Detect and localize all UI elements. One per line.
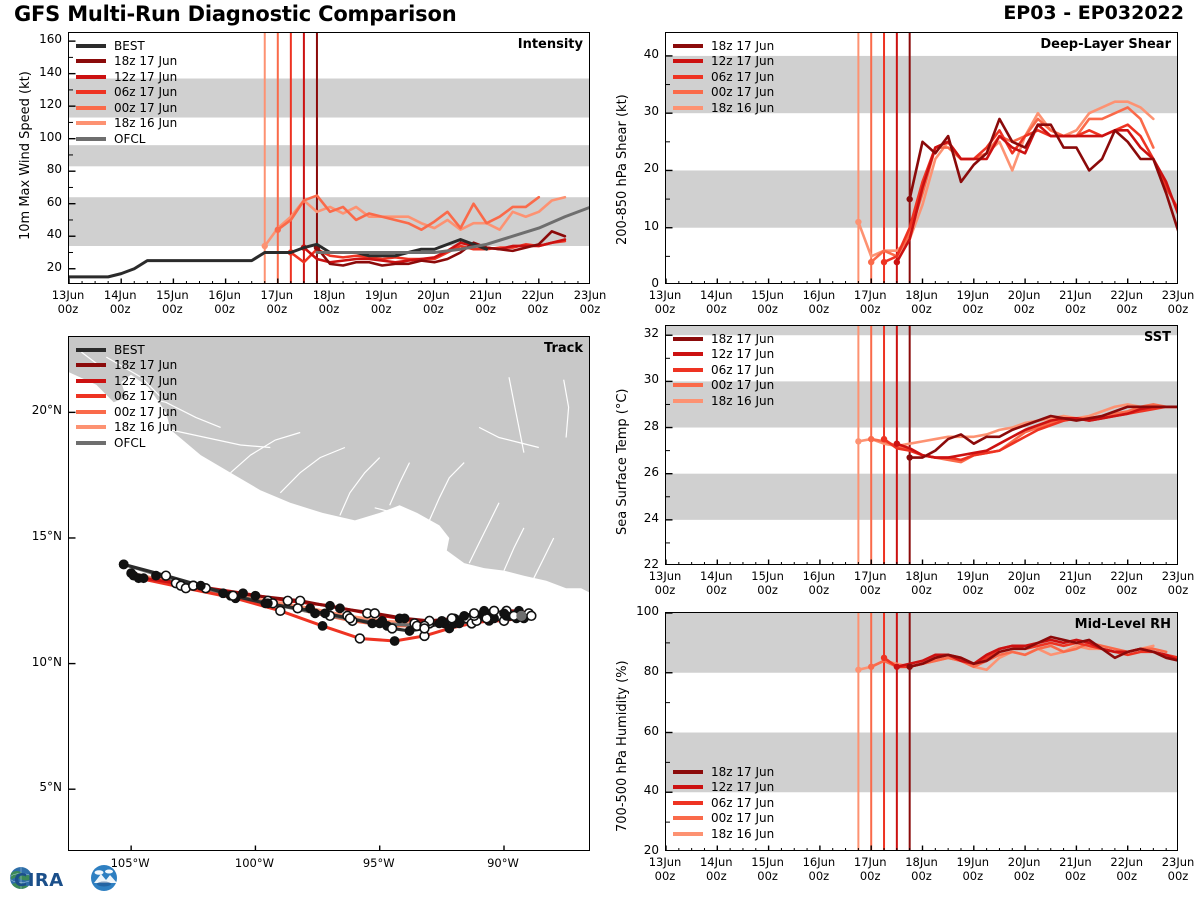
legend-color-swatch <box>673 399 703 403</box>
legend-item[interactable]: 18z 17 Jun <box>76 54 177 70</box>
shaded-band <box>69 145 590 166</box>
legend-item[interactable]: 18z 16 Jun <box>673 393 774 409</box>
legend-item[interactable]: OFCL <box>76 435 177 451</box>
track-marker-open <box>370 609 379 618</box>
rh-panel-label: Mid-Level RH <box>1075 617 1171 632</box>
legend-color-swatch <box>76 410 106 414</box>
track-marker-open <box>276 606 285 615</box>
legend-label: 12z 17 Jun <box>711 347 774 361</box>
legend-item[interactable]: 00z 17 Jun <box>76 404 177 420</box>
track-marker-open <box>345 614 354 623</box>
legend-color-swatch <box>673 44 703 48</box>
x-tick-label: 95°W <box>349 857 409 871</box>
legend-color-swatch <box>76 348 106 352</box>
legend-item[interactable]: 18z 16 Jun <box>673 826 774 842</box>
x-tick-label: 100°W <box>224 857 284 871</box>
legend-color-swatch <box>76 121 106 125</box>
legend-item[interactable]: 12z 17 Jun <box>76 373 177 389</box>
series-init-marker <box>855 438 861 444</box>
x-tick-label: 23Jun00z <box>1148 856 1200 883</box>
y-tick-label: 20 <box>619 843 659 857</box>
legend-color-swatch <box>76 379 106 383</box>
series-init-marker <box>894 259 900 265</box>
x-tick-label: 23Jun00z <box>1148 289 1200 316</box>
legend-item[interactable]: 12z 17 Jun <box>673 54 774 70</box>
legend-color-swatch <box>673 832 703 836</box>
y-tick-label: 10 <box>619 219 659 233</box>
y-tick-label: 40 <box>619 47 659 61</box>
legend-item[interactable]: 18z 16 Jun <box>76 420 177 436</box>
legend-label: 18z 16 Jun <box>114 116 177 130</box>
legend-label: 12z 17 Jun <box>711 54 774 68</box>
legend-label: 00z 17 Jun <box>114 405 177 419</box>
legend-label: OFCL <box>114 436 145 450</box>
legend-item[interactable]: BEST <box>76 38 177 54</box>
x-tick-label: 15Jun00z <box>142 289 202 316</box>
panel-rh: Mid-Level RH 18z 17 Jun12z 17 Jun06z 17 … <box>665 612 1178 851</box>
track-marker-open <box>283 596 292 605</box>
track-marker-filled <box>139 574 148 583</box>
legend-color-swatch <box>673 59 703 63</box>
legend-label: 18z 16 Jun <box>711 101 774 115</box>
legend-color-swatch <box>673 770 703 774</box>
x-tick-label: 16Jun00z <box>195 289 255 316</box>
track-marker-filled <box>152 571 161 580</box>
y-tick-label: 26 <box>619 465 659 479</box>
x-tick-label: 23Jun00z <box>560 289 620 316</box>
svg-text:CIRA: CIRA <box>14 870 64 891</box>
y-tick-label: 100 <box>619 604 659 618</box>
sst-panel-label: SST <box>1144 330 1171 345</box>
legend-label: 12z 17 Jun <box>114 70 177 84</box>
x-tick-label: 90°W <box>473 857 533 871</box>
cira-logo: CIRA <box>6 858 126 898</box>
series-init-marker <box>894 664 900 670</box>
legend-item[interactable]: 18z 16 Jun <box>673 100 774 116</box>
panel-sst: SST 18z 17 Jun12z 17 Jun06z 17 Jun00z 17… <box>665 325 1178 565</box>
y-tick-label: 24 <box>619 511 659 525</box>
legend-item[interactable]: 00z 17 Jun <box>673 85 774 101</box>
track-marker-filled <box>435 619 444 628</box>
track-marker-open <box>447 614 456 623</box>
track-marker-open <box>355 634 364 643</box>
x-tick-label: 18Jun00z <box>299 289 359 316</box>
legend-label: 18z 17 Jun <box>711 765 774 779</box>
x-tick-label: 17Jun00z <box>247 289 307 316</box>
legend-label: 18z 17 Jun <box>711 39 774 53</box>
track-marker-open <box>490 606 499 615</box>
intensity-panel-label: Intensity <box>518 37 583 52</box>
y-tick-label: 15°N <box>12 529 62 543</box>
track-marker-filled <box>405 627 414 636</box>
legend-label: 18z 16 Jun <box>711 827 774 841</box>
legend-label: 18z 17 Jun <box>711 332 774 346</box>
page-title: GFS Multi-Run Diagnostic Comparison <box>14 2 456 26</box>
legend-label: BEST <box>114 343 145 357</box>
legend-item[interactable]: 00z 17 Jun <box>76 100 177 116</box>
legend-label: 06z 17 Jun <box>114 85 177 99</box>
legend-label: OFCL <box>114 132 145 146</box>
legend-label: 12z 17 Jun <box>114 374 177 388</box>
rh-ylabel: 700-500 hPa Humidity (%) <box>615 660 630 832</box>
legend-color-swatch <box>76 44 106 48</box>
shear-legend: 18z 17 Jun12z 17 Jun06z 17 Jun00z 17 Jun… <box>673 38 774 116</box>
legend-color-swatch <box>673 368 703 372</box>
legend-item[interactable]: 18z 17 Jun <box>76 358 177 374</box>
series-init-marker <box>275 227 281 233</box>
legend-item[interactable]: 12z 17 Jun <box>673 780 774 796</box>
track-marker-filled <box>480 606 489 615</box>
ofcl-endpoint-marker <box>517 611 526 620</box>
y-tick-label: 32 <box>619 326 659 340</box>
y-tick-label: 20 <box>22 260 62 274</box>
y-tick-label: 80 <box>22 162 62 176</box>
y-tick-label: 120 <box>22 97 62 111</box>
y-tick-label: 140 <box>22 65 62 79</box>
legend-item[interactable]: 00z 17 Jun <box>673 811 774 827</box>
y-tick-label: 60 <box>22 195 62 209</box>
x-tick-label: 13Jun00z <box>38 289 98 316</box>
legend-color-swatch <box>673 90 703 94</box>
legend-color-swatch <box>76 425 106 429</box>
y-tick-label: 40 <box>619 783 659 797</box>
x-tick-label: 23Jun00z <box>1148 570 1200 597</box>
legend-item[interactable]: 06z 17 Jun <box>76 85 177 101</box>
y-tick-label: 60 <box>619 724 659 738</box>
track-marker-open <box>470 609 479 618</box>
legend-label: 06z 17 Jun <box>711 363 774 377</box>
legend-label: 00z 17 Jun <box>114 101 177 115</box>
legend-item[interactable]: BEST <box>76 342 177 358</box>
y-tick-label: 28 <box>619 419 659 433</box>
track-marker-filled <box>336 604 345 613</box>
legend-color-swatch <box>76 137 106 141</box>
track-marker-filled <box>196 581 205 590</box>
track-marker-filled <box>321 609 330 618</box>
y-tick-label: 5°N <box>12 780 62 794</box>
legend-label: 12z 17 Jun <box>711 780 774 794</box>
legend-color-swatch <box>76 363 106 367</box>
figure-root: GFS Multi-Run Diagnostic Comparison EP03… <box>0 0 1200 900</box>
legend-color-swatch <box>673 801 703 805</box>
series-init-marker <box>906 454 912 460</box>
legend-color-swatch <box>673 75 703 79</box>
track-marker-filled <box>400 614 409 623</box>
panel-intensity: Intensity BEST18z 17 Jun12z 17 Jun06z 17… <box>68 32 590 284</box>
legend-label: 18z 17 Jun <box>114 358 177 372</box>
track-marker-filled <box>368 619 377 628</box>
series-init-marker <box>868 436 874 442</box>
track-marker-filled <box>311 609 320 618</box>
y-tick-label: 100 <box>22 130 62 144</box>
y-tick-label: 0 <box>619 276 659 290</box>
x-tick-label: 21Jun00z <box>456 289 516 316</box>
track-panel-label: Track <box>544 341 583 356</box>
x-tick-label: 14Jun00z <box>90 289 150 316</box>
track-marker-open <box>420 624 429 633</box>
legend-item[interactable]: 06z 17 Jun <box>673 795 774 811</box>
legend-color-swatch <box>76 106 106 110</box>
y-tick-label: 160 <box>22 32 62 46</box>
storm-id-title: EP03 - EP032022 <box>1003 2 1184 24</box>
series-init-marker <box>262 243 268 249</box>
track-marker-filled <box>239 589 248 598</box>
legend-label: 06z 17 Jun <box>711 70 774 84</box>
x-tick-label: 19Jun00z <box>351 289 411 316</box>
shaded-band <box>69 197 590 246</box>
legend-label: 00z 17 Jun <box>711 378 774 392</box>
legend-label: 06z 17 Jun <box>711 796 774 810</box>
y-tick-label: 40 <box>22 227 62 241</box>
legend-color-swatch <box>673 352 703 356</box>
track-marker-filled <box>500 609 509 618</box>
legend-item[interactable]: 06z 17 Jun <box>673 69 774 85</box>
track-marker-filled <box>460 611 469 620</box>
legend-color-swatch <box>673 816 703 820</box>
rh-legend: 18z 17 Jun12z 17 Jun06z 17 Jun00z 17 Jun… <box>673 764 774 842</box>
series-init-marker <box>906 196 912 202</box>
legend-item[interactable]: OFCL <box>76 131 177 147</box>
track-marker-filled <box>251 591 260 600</box>
track-marker-open <box>293 604 302 613</box>
y-tick-label: 22 <box>619 557 659 571</box>
legend-label: BEST <box>114 39 145 53</box>
legend-color-swatch <box>673 106 703 110</box>
legend-item[interactable]: 06z 17 Jun <box>673 362 774 378</box>
shear-panel-label: Deep-Layer Shear <box>1040 37 1171 52</box>
series-init-marker <box>855 667 861 673</box>
series-init-marker <box>868 259 874 265</box>
series-init-marker <box>881 259 887 265</box>
legend-item[interactable]: 12z 17 Jun <box>76 69 177 85</box>
legend-label: 18z 16 Jun <box>114 420 177 434</box>
panel-track: Track BEST18z 17 Jun12z 17 Jun06z 17 Jun… <box>68 336 590 851</box>
y-tick-label: 10°N <box>12 655 62 669</box>
legend-color-swatch <box>673 337 703 341</box>
series-init-marker <box>906 664 912 670</box>
legend-color-swatch <box>76 90 106 94</box>
legend-label: 18z 16 Jun <box>711 394 774 408</box>
track-marker-open <box>162 571 171 580</box>
track-legend: BEST18z 17 Jun12z 17 Jun06z 17 Jun00z 17… <box>76 342 177 451</box>
legend-color-swatch <box>76 394 106 398</box>
track-marker-filled <box>390 637 399 646</box>
legend-color-swatch <box>673 785 703 789</box>
y-tick-label: 80 <box>619 664 659 678</box>
track-marker-filled <box>318 622 327 631</box>
legend-label: 06z 17 Jun <box>114 389 177 403</box>
legend-color-swatch <box>673 383 703 387</box>
panel-shear: Deep-Layer Shear 18z 17 Jun12z 17 Jun06z… <box>665 32 1178 284</box>
series-init-marker <box>894 440 900 446</box>
series-init-marker <box>855 219 861 225</box>
legend-label: 18z 17 Jun <box>114 54 177 68</box>
shaded-band <box>666 474 1178 520</box>
y-tick-label: 20 <box>619 161 659 175</box>
legend-color-swatch <box>76 75 106 79</box>
y-tick-label: 30 <box>619 104 659 118</box>
legend-item[interactable]: 06z 17 Jun <box>76 389 177 405</box>
track-marker-open <box>388 624 397 633</box>
legend-color-swatch <box>76 441 106 445</box>
track-marker-open <box>527 611 536 620</box>
track-marker-filled <box>261 599 270 608</box>
x-tick-label: 22Jun00z <box>508 289 568 316</box>
series-init-marker <box>881 655 887 661</box>
legend-item[interactable]: 18z 17 Jun <box>673 331 774 347</box>
legend-item[interactable]: 12z 17 Jun <box>673 347 774 363</box>
sst-legend: 18z 17 Jun12z 17 Jun06z 17 Jun00z 17 Jun… <box>673 331 774 409</box>
legend-label: 00z 17 Jun <box>711 811 774 825</box>
x-tick-label: 20Jun00z <box>403 289 463 316</box>
legend-label: 00z 17 Jun <box>711 85 774 99</box>
y-tick-label: 20°N <box>12 403 62 417</box>
track-marker-open <box>229 591 238 600</box>
y-tick-label: 30 <box>619 372 659 386</box>
series-init-marker <box>881 436 887 442</box>
legend-item[interactable]: 18z 17 Jun <box>673 764 774 780</box>
legend-color-swatch <box>76 59 106 63</box>
legend-item[interactable]: 00z 17 Jun <box>673 378 774 394</box>
legend-item[interactable]: 18z 16 Jun <box>76 116 177 132</box>
series-init-marker <box>868 664 874 670</box>
intensity-legend: BEST18z 17 Jun12z 17 Jun06z 17 Jun00z 17… <box>76 38 177 147</box>
legend-item[interactable]: 18z 17 Jun <box>673 38 774 54</box>
track-marker-filled <box>119 560 128 569</box>
